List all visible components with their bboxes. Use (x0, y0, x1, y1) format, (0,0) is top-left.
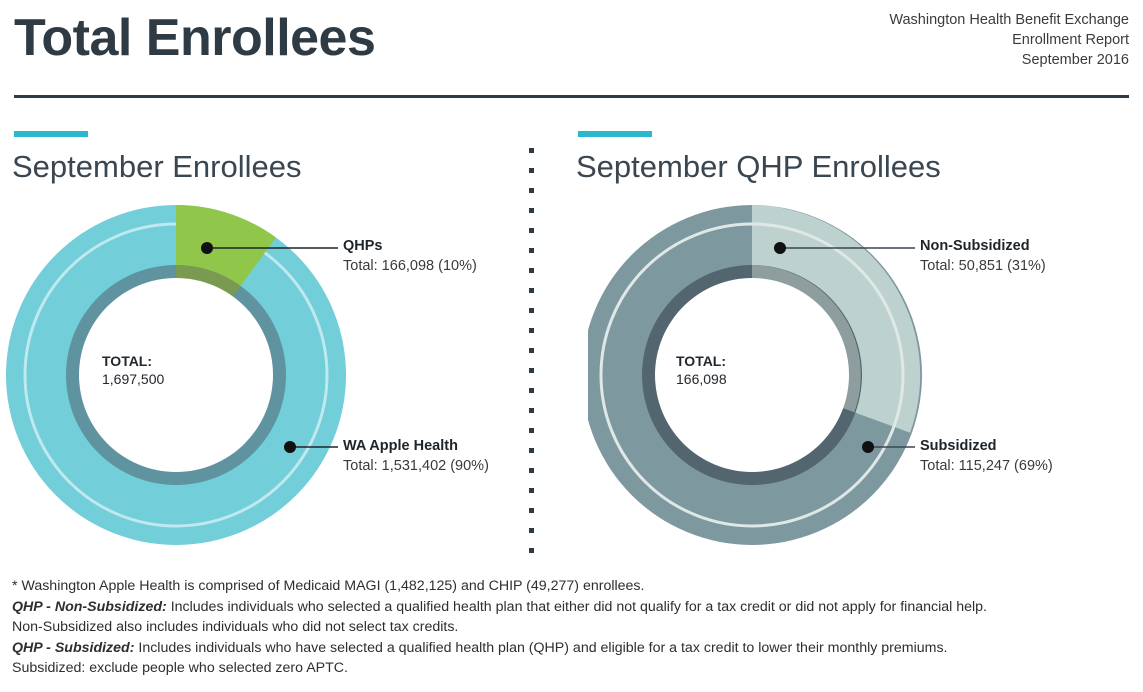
callout-wa-apple-health: WA Apple Health Total: 1,531,402 (90%) (343, 437, 489, 476)
callout-non-subsidized-name: Non-Subsidized (920, 237, 1046, 256)
callout-non-subsidized-value: Total: 50,851 (31%) (920, 256, 1046, 276)
callout-subsidized-value: Total: 115,247 (69%) (920, 456, 1053, 476)
page-header: Total Enrollees Washington Health Benefi… (0, 0, 1143, 100)
right-section-title: September QHP Enrollees (576, 148, 941, 186)
footnotes: * Washington Apple Health is comprised o… (12, 576, 1134, 679)
callout-non-subsidized: Non-Subsidized Total: 50,851 (31%) (920, 237, 1046, 276)
footnote-text: Non-Subsidized also includes individuals… (12, 619, 458, 635)
footnote-emphasis: QHP - Non-Subsidized: (12, 599, 167, 615)
page-title: Total Enrollees (14, 6, 375, 70)
footnote-text: * Washington Apple Health is comprised o… (12, 578, 644, 594)
callout-subsidized: Subsidized Total: 115,247 (69%) (920, 437, 1053, 476)
right-total-value: 166,098 (676, 370, 727, 389)
right-center-total: TOTAL: 166,098 (676, 352, 727, 389)
callout-wa-apple-health-value: Total: 1,531,402 (90%) (343, 456, 489, 476)
footnote-emphasis: QHP - Subsidized: (12, 640, 134, 656)
callout-wa-apple-health-name: WA Apple Health (343, 437, 489, 456)
footnote-line: QHP - Non-Subsidized: Includes individua… (12, 597, 1134, 618)
callout-subsidized-name: Subsidized (920, 437, 1053, 456)
report-org: Washington Health Benefit Exchange (889, 10, 1129, 30)
report-name: Enrollment Report (889, 30, 1129, 50)
footnote-line: Subsidized: exclude people who selected … (12, 658, 1134, 679)
left-total-value: 1,697,500 (102, 370, 164, 389)
header-divider-rule (14, 95, 1129, 98)
callout-qhps-value: Total: 166,098 (10%) (343, 256, 477, 276)
report-period: September 2016 (889, 50, 1129, 70)
left-total-word: TOTAL: (102, 352, 164, 370)
infographic-page: Total Enrollees Washington Health Benefi… (0, 0, 1143, 692)
footnote-line: QHP - Subsidized: Includes individuals w… (12, 638, 1134, 659)
footnote-line: * Washington Apple Health is comprised o… (12, 576, 1134, 597)
right-total-word: TOTAL: (676, 352, 727, 370)
callout-qhps: QHPs Total: 166,098 (10%) (343, 237, 477, 276)
right-accent-bar (578, 131, 652, 137)
report-meta: Washington Health Benefit Exchange Enrol… (889, 10, 1129, 70)
left-center-total: TOTAL: 1,697,500 (102, 352, 164, 389)
right-donut-chart (588, 195, 928, 555)
footnote-text: Includes individuals who have selected a… (134, 640, 947, 656)
left-donut-chart (0, 195, 352, 555)
footnote-text: Subsidized: exclude people who selected … (12, 660, 348, 676)
callout-qhps-name: QHPs (343, 237, 477, 256)
panel-divider (529, 148, 534, 568)
left-section-title: September Enrollees (12, 148, 302, 186)
left-accent-bar (14, 131, 88, 137)
footnote-text: Includes individuals who selected a qual… (167, 599, 987, 615)
footnote-line: Non-Subsidized also includes individuals… (12, 617, 1134, 638)
